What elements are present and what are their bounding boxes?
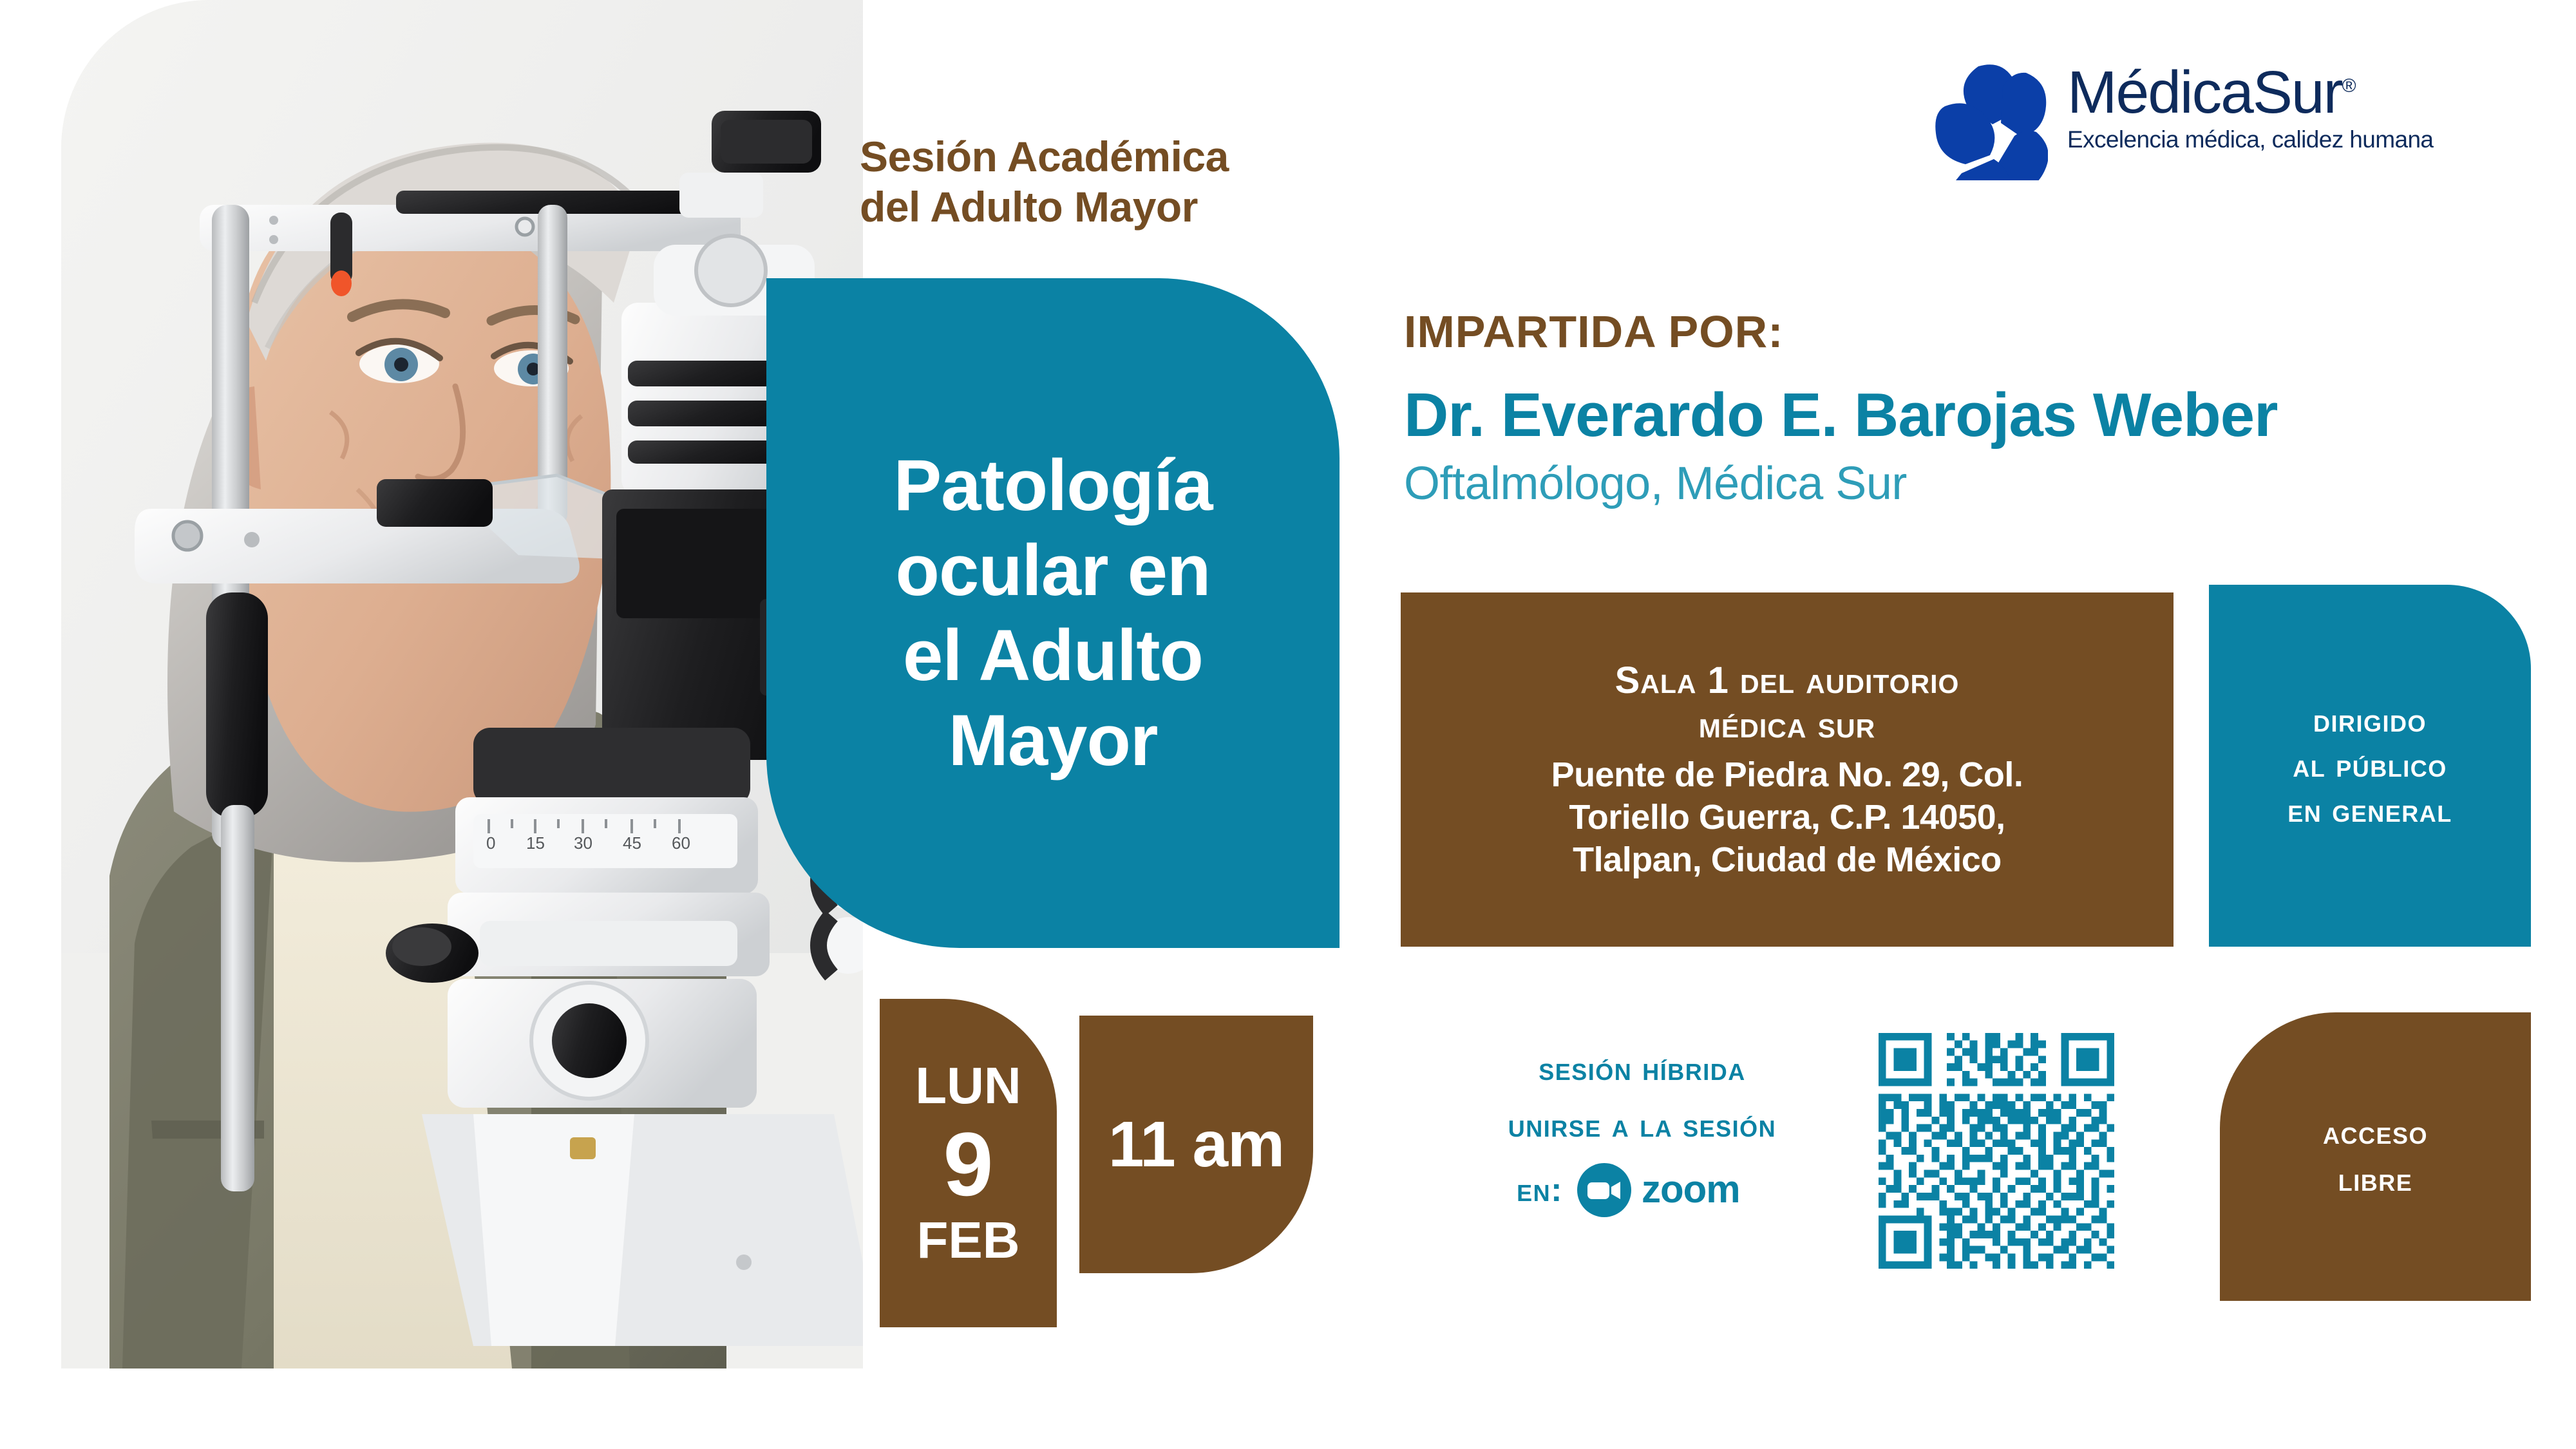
svg-text:0: 0 — [486, 833, 495, 853]
audience-text: Dirigido al público en general — [2287, 698, 2452, 834]
venue-line-3: Puente de Piedra No. 29, Col. — [1551, 754, 2023, 797]
logo-tagline: Excelencia médica, calidez humana — [2067, 126, 2433, 153]
svg-text:30: 30 — [574, 833, 592, 853]
presented-by-label: IMPARTIDA POR: — [1404, 306, 1784, 357]
zoom-wordmark[interactable]: zoom — [1642, 1170, 1768, 1210]
senior-woman-at-slit-lamp-eye-exam: 0 15 30 45 60 — [61, 0, 863, 1368]
date-day-number: 9 — [943, 1119, 994, 1209]
venue-line-2: Médica Sur — [1615, 703, 1960, 748]
event-time: 11 am — [1108, 1108, 1284, 1182]
title-line-4: Mayor — [893, 698, 1212, 783]
medica-sur-flower-mark — [1932, 61, 2048, 180]
access-line-1: Acceso — [2323, 1110, 2428, 1157]
event-kicker: Sesión Académica del Adulto Mayor — [860, 132, 1426, 232]
join-row: en: zoom — [1443, 1163, 1842, 1217]
zoom-logo[interactable]: zoom — [1577, 1163, 1768, 1217]
access-line-2: libre — [2323, 1157, 2428, 1204]
venue-name: Sala 1 del Auditorio Médica Sur — [1615, 658, 1960, 748]
speaker-name: Dr. Everardo E. Barojas Weber — [1404, 380, 2277, 451]
kicker-line-1: Sesión Académica — [860, 132, 1426, 182]
access-text: Acceso libre — [2323, 1110, 2428, 1204]
venue-line-4: Toriello Guerra, C.P. 14050, — [1551, 797, 2023, 839]
venue-street: Puente de Piedra No. 29, Col. Toriello G… — [1551, 754, 2023, 882]
venue-line-1: Sala 1 del Auditorio — [1615, 658, 1960, 703]
logo-brand-name: MédicaSur® — [2067, 62, 2433, 122]
title-line-3: el Adulto — [893, 613, 1212, 698]
hybrid-line-2: unirse a la sesión — [1443, 1106, 1842, 1145]
date-month: FEB — [917, 1215, 1020, 1266]
svg-text:60: 60 — [672, 833, 690, 853]
session-title: Patología ocular en el Adulto Mayor — [855, 443, 1251, 784]
hybrid-session-block: Sesión híbrida unirse a la sesión en: zo… — [1443, 1050, 1842, 1217]
poster-canvas: 0 15 30 45 60 — [0, 0, 2576, 1449]
logo-brand-part1: Médica — [2067, 59, 2253, 126]
audience-block: Dirigido al público en general — [2209, 585, 2531, 947]
speaker-role: Oftalmólogo, Médica Sur — [1404, 457, 1907, 510]
svg-text:15: 15 — [526, 833, 545, 853]
svg-text:zoom: zoom — [1642, 1170, 1740, 1210]
session-title-block: Patología ocular en el Adulto Mayor — [766, 278, 1340, 948]
hero-photo: 0 15 30 45 60 — [61, 0, 863, 1368]
logo-wordmark: MédicaSur® Excelencia médica, calidez hu… — [2067, 62, 2433, 153]
title-line-1: Patología — [893, 443, 1212, 528]
venue-address-block: Sala 1 del Auditorio Médica Sur Puente d… — [1401, 592, 2173, 947]
kicker-line-2: del Adulto Mayor — [860, 182, 1426, 232]
svg-text:45: 45 — [623, 833, 641, 853]
hybrid-line-1: Sesión híbrida — [1443, 1050, 1842, 1088]
event-time-block: 11 am — [1079, 1016, 1313, 1273]
audience-line-1: Dirigido — [2287, 698, 2452, 743]
zoom-camera-icon[interactable] — [1577, 1163, 1631, 1217]
zoom-session-qr-code[interactable] — [1871, 1025, 2122, 1276]
audience-line-2: al público — [2287, 743, 2452, 788]
date-day-of-week: LUN — [915, 1060, 1021, 1112]
event-date-block: LUN 9 FEB — [880, 999, 1057, 1327]
access-block: Acceso libre — [2220, 1012, 2531, 1301]
title-line-2: ocular en — [893, 528, 1212, 613]
medica-sur-logo: MédicaSur® Excelencia médica, calidez hu… — [1932, 61, 2492, 184]
registered-trademark-icon: ® — [2342, 75, 2356, 97]
audience-line-3: en general — [2287, 788, 2452, 833]
logo-brand-part2: Sur — [2253, 59, 2342, 126]
join-prefix-label: en: — [1517, 1171, 1563, 1209]
venue-line-5: Tlalpan, Ciudad de México — [1551, 839, 2023, 882]
